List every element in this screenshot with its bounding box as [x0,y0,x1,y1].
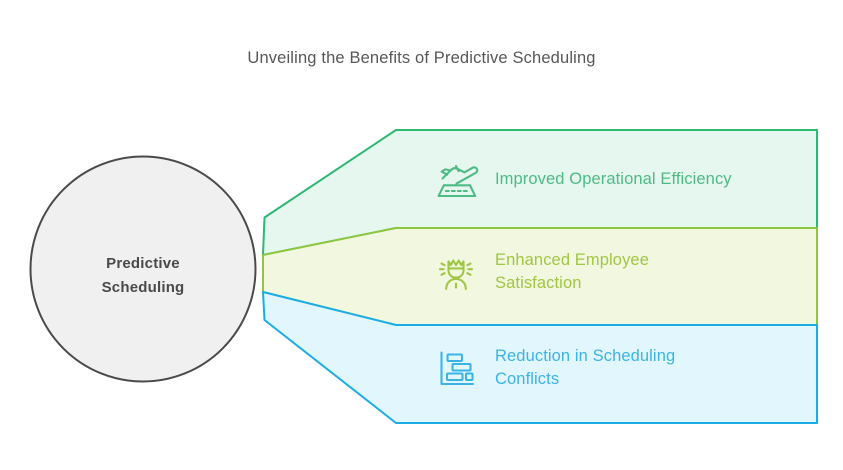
diagram-canvas [0,0,843,470]
band-row-improved-operational-efficiency[interactable]: Improved Operational Efficiency [430,154,732,206]
airplane-takeoff-icon [430,154,482,206]
band-row-reduction-in-scheduling-conflicts[interactable]: Reduction in Scheduling Conflicts [430,342,675,394]
hub-label-line-2: Scheduling [43,276,243,300]
crowned-person-icon [430,246,482,298]
band-label-enhanced-employee-satisfaction: Enhanced Employee Satisfaction [495,249,649,296]
band-row-enhanced-employee-satisfaction[interactable]: Enhanced Employee Satisfaction [430,246,649,298]
predictive-scheduling-diagram: Unveiling the Benefits of Predictive Sch… [0,0,843,470]
band-label-improved-operational-efficiency: Improved Operational Efficiency [495,168,732,191]
hub-label: Predictive Scheduling [43,252,243,299]
band-label-reduction-in-scheduling-conflicts: Reduction in Scheduling Conflicts [495,345,675,392]
hub-label-line-1: Predictive [43,252,243,276]
page-title: Unveiling the Benefits of Predictive Sch… [0,49,843,68]
gantt-chart-icon [430,342,482,394]
